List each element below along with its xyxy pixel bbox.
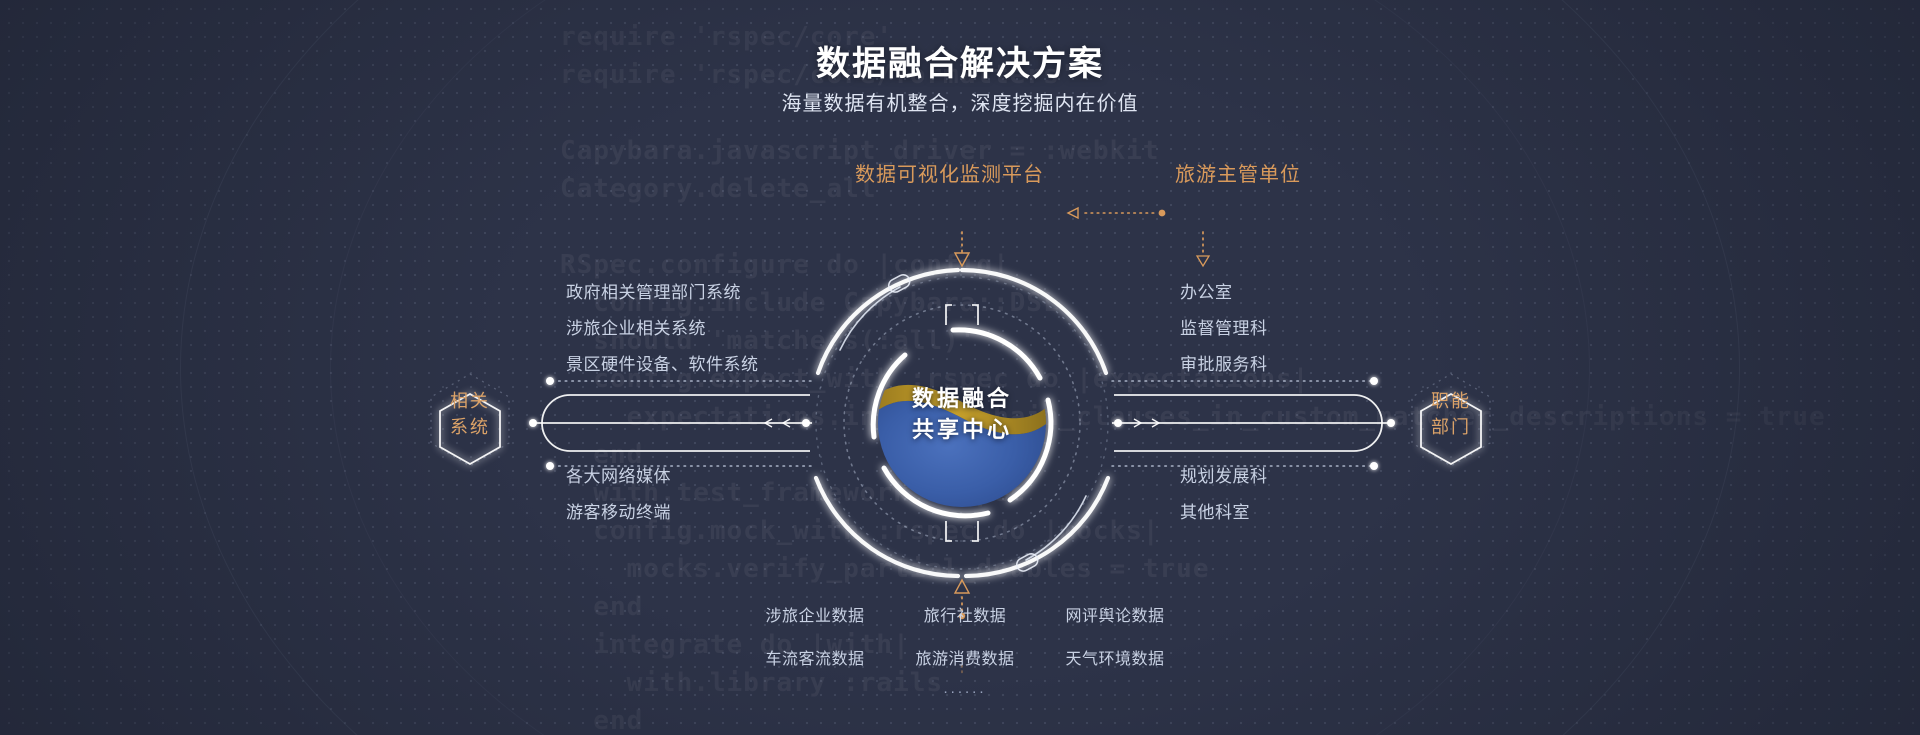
list-item: 监督管理科 bbox=[1180, 314, 1268, 339]
list-item: 涉旅企业相关系统 bbox=[566, 314, 759, 339]
platform-dropper-arrow bbox=[955, 253, 969, 266]
diagram-stage: require 'rspec/core' require 'rspec/core… bbox=[0, 0, 1920, 735]
data-cell: 天气环境数据 bbox=[1040, 645, 1190, 669]
left-node-upper bbox=[546, 377, 554, 385]
list-item: 景区硬件设备、软件系统 bbox=[566, 350, 759, 375]
list-item: 其他科室 bbox=[1180, 498, 1268, 523]
hexagon-left-line1: 相关 bbox=[450, 388, 490, 414]
left-top-source-list: 政府相关管理部门系统 涉旅企业相关系统 景区硬件设备、软件系统 bbox=[566, 278, 759, 386]
data-cell: 旅游消费数据 bbox=[890, 645, 1040, 669]
list-item: 各大网络媒体 bbox=[566, 462, 671, 487]
hexagon-right-line1: 职能 bbox=[1431, 388, 1471, 414]
hexagon-left-line2: 系统 bbox=[450, 414, 490, 440]
left-node-lower bbox=[546, 462, 554, 470]
left-hex-node bbox=[529, 419, 537, 427]
left-axis-node bbox=[802, 419, 810, 427]
data-cell: 网评舆论数据 bbox=[1040, 602, 1190, 626]
authority-dropper-arrow bbox=[1197, 256, 1209, 266]
right-axis-node bbox=[1114, 419, 1122, 427]
label-tourism-authority[interactable]: 旅游主管单位 bbox=[1175, 158, 1301, 187]
right-bottom-department-list: 规划发展科 其他科室 bbox=[1180, 462, 1268, 534]
data-cell: 涉旅企业数据 bbox=[740, 602, 890, 626]
hexagon-left[interactable]: 相关 系统 bbox=[411, 350, 529, 478]
hexagon-right[interactable]: 职能 部门 bbox=[1392, 350, 1510, 478]
bottom-dropper-arrow bbox=[955, 580, 969, 593]
bottom-data-grid: 涉旅企业数据 旅行社数据 网评舆论数据 车流客流数据 旅游消费数据 天气环境数据 bbox=[740, 602, 1190, 669]
list-item: 游客移动终端 bbox=[566, 498, 671, 523]
right-top-department-list: 办公室 监督管理科 审批服务科 bbox=[1180, 278, 1268, 386]
data-cell: 旅行社数据 bbox=[890, 602, 1040, 626]
label-visualization-platform[interactable]: 数据可视化监测平台 bbox=[855, 158, 1044, 187]
hexagon-right-label: 职能 部门 bbox=[1392, 350, 1510, 478]
right-node-upper bbox=[1370, 377, 1378, 385]
list-item: 审批服务科 bbox=[1180, 350, 1268, 375]
left-bottom-source-list: 各大网络媒体 游客移动终端 bbox=[566, 462, 671, 534]
bottom-ellipsis: ...... bbox=[740, 680, 1190, 697]
list-item: 规划发展科 bbox=[1180, 462, 1268, 487]
top-link-arrowhead bbox=[1068, 208, 1078, 218]
data-cell: 车流客流数据 bbox=[740, 645, 890, 669]
center-ring-system bbox=[816, 270, 1108, 576]
hexagon-left-label: 相关 系统 bbox=[411, 350, 529, 478]
top-label-row: 数据可视化监测平台 旅游主管单位 bbox=[0, 158, 1920, 188]
hexagon-right-line2: 部门 bbox=[1431, 414, 1471, 440]
list-item: 办公室 bbox=[1180, 278, 1268, 303]
right-node-lower bbox=[1370, 462, 1378, 470]
list-item: 政府相关管理部门系统 bbox=[566, 278, 759, 303]
top-link-node bbox=[1159, 210, 1166, 217]
